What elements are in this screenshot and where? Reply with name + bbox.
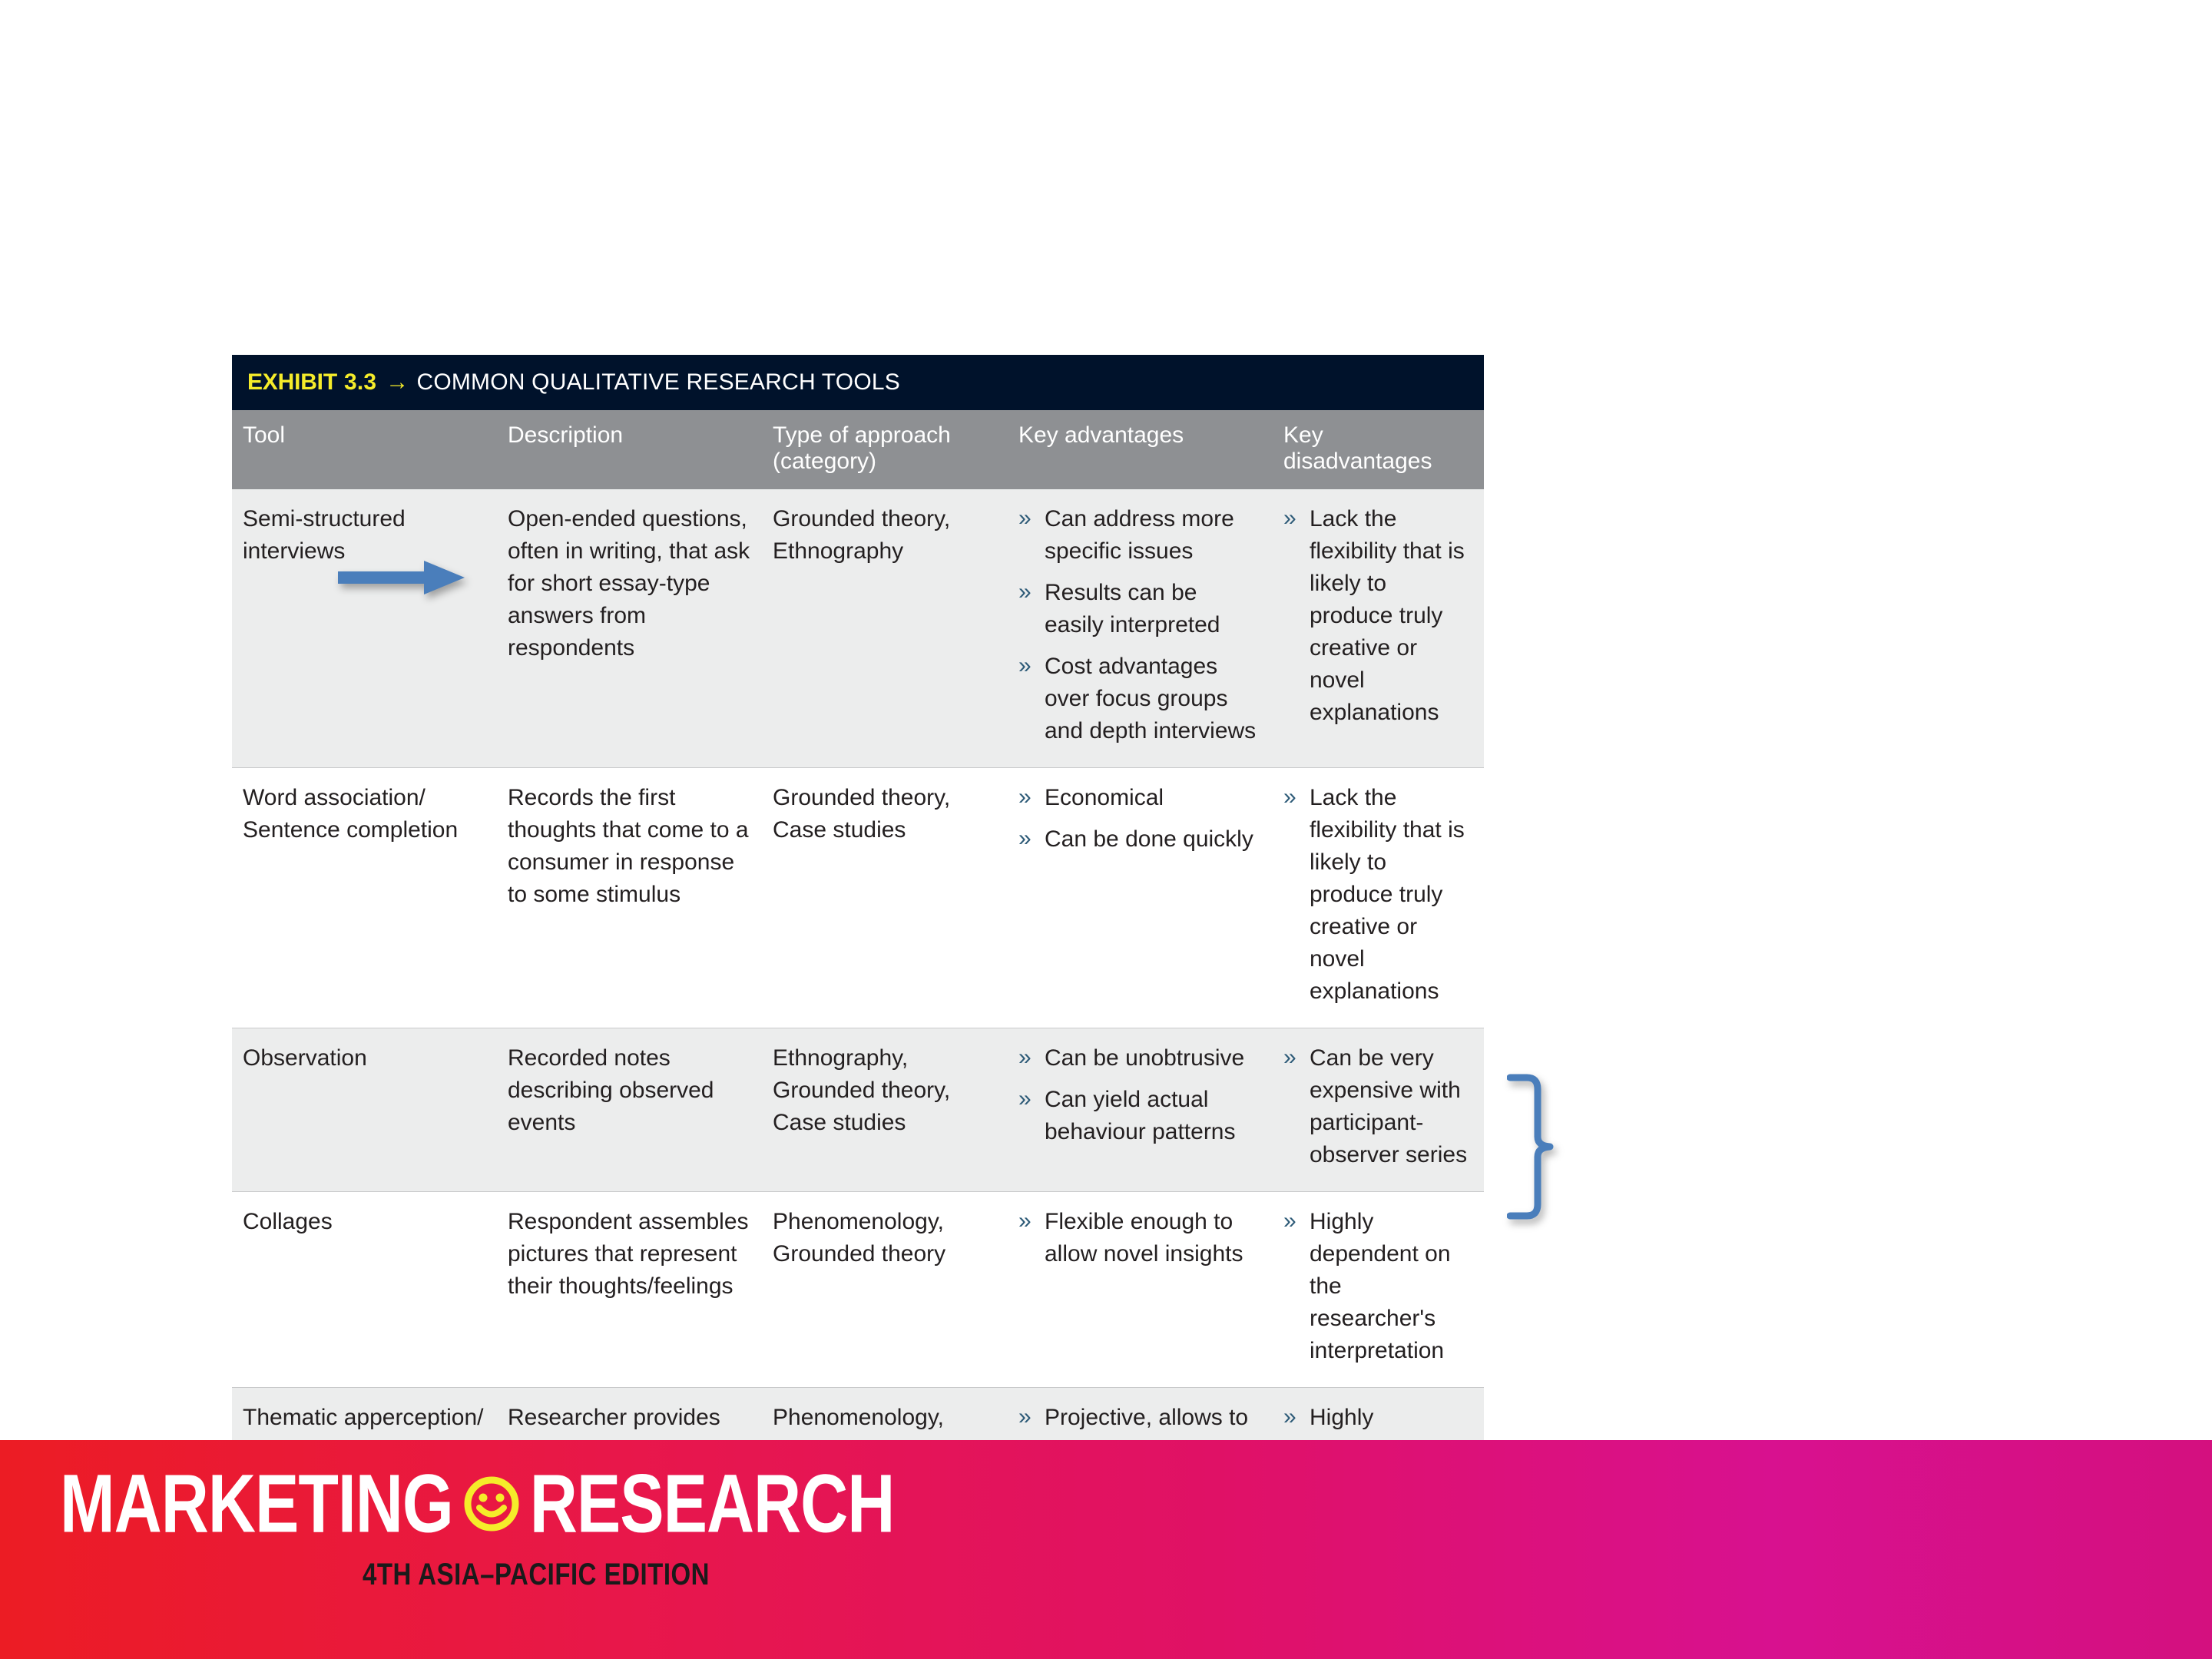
table-row: Word association/ Sentence completion Re… [232,768,1484,1028]
list-item: »Results can be easily interpreted [1018,577,1262,641]
column-header-tool: Tool [232,410,497,489]
exhibit-label: EXHIBIT [247,369,337,396]
table-header: Tool Description Type of approach (categ… [232,410,1484,489]
list-item-label: Can be very expensive with participant-o… [1310,1045,1467,1167]
brand-title: MARKETING RESEARCH [60,1471,1012,1537]
cell-approach: Ethnography, Grounded theory, Case studi… [762,1028,1008,1192]
chevron-bullet-icon: » [1283,1401,1296,1433]
chevron-bullet-icon: » [1018,576,1031,608]
disadvantages-list: »Lack the flexibility that is likely to … [1283,503,1473,729]
column-header-approach: Type of approach (category) [762,410,1008,489]
list-item: »Can be very expensive with participant-… [1283,1042,1473,1171]
exhibit-title-bar: EXHIBIT 3.3 → COMMON QUALITATIVE RESEARC… [232,355,1484,410]
cell-disadvantages: »Lack the flexibility that is likely to … [1273,489,1484,768]
list-item: »Can address more specific issues [1018,503,1262,568]
disadvantages-list: »Can be very expensive with participant-… [1283,1042,1473,1171]
list-item-label: Lack the flexibility that is likely to p… [1310,506,1465,725]
list-item-label: Can be done quickly [1045,826,1253,852]
edition-label: 4TH ASIA–PACIFIC EDITION [60,1557,1012,1592]
cell-description: Records the first thoughts that come to … [497,768,762,1028]
cell-disadvantages: »Lack the flexibility that is likely to … [1273,768,1484,1028]
chevron-bullet-icon: » [1018,1041,1031,1074]
list-item: »Flexible enough to allow novel insights [1018,1206,1262,1270]
chevron-bullet-icon: » [1283,1041,1296,1074]
blue-brace-annotation[interactable] [1507,1074,1561,1220]
cell-approach: Grounded theory, Case studies [762,768,1008,1028]
list-item-label: Flexible enough to allow novel insights [1045,1209,1243,1267]
disadvantages-list: »Lack the flexibility that is likely to … [1283,782,1473,1008]
list-item-label: Can address more specific issues [1045,506,1234,564]
list-item: »Can yield actual behaviour patterns [1018,1084,1262,1148]
list-item-label: Highly dependent on the researcher's int… [1310,1209,1451,1363]
cell-disadvantages: »Highly dependent on the researcher's in… [1273,1192,1484,1388]
chevron-bullet-icon: » [1018,781,1031,813]
advantages-list: »Flexible enough to allow novel insights [1018,1206,1262,1270]
chevron-bullet-icon: » [1018,1083,1031,1115]
disadvantages-list: »Highly dependent on the researcher's in… [1283,1206,1473,1367]
brand-block: MARKETING RESEARCH 4TH ASIA–PACIFIC EDIT… [60,1471,1012,1586]
cell-tool: Word association/ Sentence completion [232,768,497,1028]
cell-approach: Phenomenology, Grounded theory [762,1192,1008,1388]
cell-advantages: »Economical »Can be done quickly [1008,768,1273,1028]
chevron-bullet-icon: » [1283,1205,1296,1237]
list-item: »Cost advantages over focus groups and d… [1018,651,1262,747]
table-row: Observation Recorded notes describing ob… [232,1028,1484,1192]
exhibit-table: EXHIBIT 3.3 → COMMON QUALITATIVE RESEARC… [232,355,1484,1584]
chevron-bullet-icon: » [1018,502,1031,535]
list-item-label: Cost advantages over focus groups and de… [1045,654,1256,743]
cell-approach: Grounded theory, Ethnography [762,489,1008,768]
advantages-list: »Can be unobtrusive »Can yield actual be… [1018,1042,1262,1148]
list-item: »Can be unobtrusive [1018,1042,1262,1075]
advantages-list: »Can address more specific issues »Resul… [1018,503,1262,747]
chevron-bullet-icon: » [1018,650,1031,682]
list-item-label: Results can be easily interpreted [1045,580,1220,637]
table-header-row: Tool Description Type of approach (categ… [232,410,1484,489]
cell-disadvantages: »Can be very expensive with participant-… [1273,1028,1484,1192]
chevron-bullet-icon: » [1018,1401,1031,1433]
cell-description: Respondent assembles pictures that repre… [497,1192,762,1388]
list-item: »Can be done quickly [1018,823,1262,856]
cell-tool: Observation [232,1028,497,1192]
exhibit-heading: COMMON QUALITATIVE RESEARCH TOOLS [416,369,899,396]
column-header-description: Description [497,410,762,489]
exhibit-number: 3.3 [344,369,376,396]
cell-advantages: »Flexible enough to allow novel insights [1008,1192,1273,1388]
cell-advantages: »Can address more specific issues »Resul… [1008,489,1273,768]
table-row: Collages Respondent assembles pictures t… [232,1192,1484,1388]
advantages-list: »Economical »Can be done quickly [1018,782,1262,856]
list-item-label: Can yield actual behaviour patterns [1045,1087,1236,1144]
list-item-label: Can be unobtrusive [1045,1045,1244,1071]
list-item: »Lack the flexibility that is likely to … [1283,503,1473,729]
list-item: »Economical [1018,782,1262,814]
chevron-bullet-icon: » [1018,1205,1031,1237]
list-item-label: Lack the flexibility that is likely to p… [1310,785,1465,1004]
cell-description: Open-ended questions, often in writing, … [497,489,762,768]
chevron-bullet-icon: » [1283,502,1296,535]
table-row: Semi-structured interviews Open-ended qu… [232,489,1484,768]
table-body: Semi-structured interviews Open-ended qu… [232,489,1484,1584]
smiley-face-icon [462,1475,521,1533]
cell-tool: Semi-structured interviews [232,489,497,768]
slide-canvas: EXHIBIT 3.3 → COMMON QUALITATIVE RESEARC… [0,0,2212,1659]
list-item-label: Economical [1045,785,1164,810]
cell-advantages: »Can be unobtrusive »Can yield actual be… [1008,1028,1273,1192]
cell-tool: Collages [232,1192,497,1388]
column-header-advantages: Key advantages [1008,410,1273,489]
list-item: »Lack the flexibility that is likely to … [1283,782,1473,1008]
chevron-bullet-icon: » [1283,781,1296,813]
brand-title-research: RESEARCH [530,1462,895,1545]
cell-description: Recorded notes describing observed event… [497,1028,762,1192]
arrow-right-icon: → [386,371,409,394]
column-header-disadvantages: Key disadvantages [1273,410,1484,489]
chevron-bullet-icon: » [1018,823,1031,855]
blue-arrow-annotation[interactable] [338,558,465,598]
brand-title-marketing: MARKETING [60,1462,453,1545]
list-item: »Highly dependent on the researcher's in… [1283,1206,1473,1367]
footer-banner: MARKETING RESEARCH 4TH ASIA–PACIFIC EDIT… [0,1440,2212,1659]
